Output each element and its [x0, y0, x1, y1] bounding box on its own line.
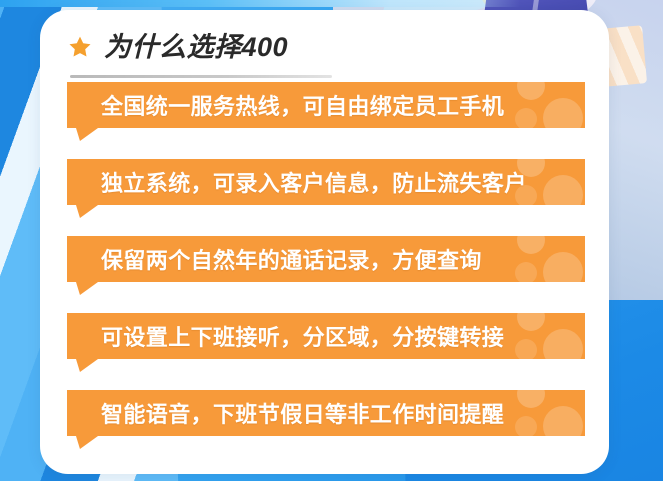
feature-banner-label: 独立系统，可录入客户信息，防止流失客户	[101, 159, 555, 205]
header-divider	[70, 75, 332, 78]
banner-tail	[76, 128, 98, 141]
page-title: 为什么选择400	[104, 34, 288, 61]
background-top-sky-strip	[0, 0, 520, 7]
banner-tail	[76, 359, 98, 372]
content-card: 为什么选择400 全国统一服务热线，可自由绑定员工手机 独立系统，可录入客户信息…	[40, 10, 609, 474]
feature-banner-label: 保留两个自然年的通话记录，方便查询	[101, 236, 555, 282]
feature-banner-label: 全国统一服务热线，可自由绑定员工手机	[101, 82, 555, 128]
banner-tail	[76, 282, 98, 295]
feature-banner-list: 全国统一服务热线，可自由绑定员工手机 独立系统，可录入客户信息，防止流失客户 保…	[67, 82, 587, 436]
card-header: 为什么选择400	[68, 28, 568, 86]
feature-banner-label: 可设置上下班接听，分区域，分按键转接	[101, 313, 555, 359]
feature-banner: 可设置上下班接听，分区域，分按键转接	[67, 313, 585, 359]
feature-banner-label: 智能语音，下班节假日等非工作时间提醒	[101, 390, 555, 436]
feature-banner: 保留两个自然年的通话记录，方便查询	[67, 236, 585, 282]
poster-root: 为什么选择400 全国统一服务热线，可自由绑定员工手机 独立系统，可录入客户信息…	[0, 0, 663, 481]
banner-tail	[76, 436, 98, 449]
star-icon	[68, 35, 92, 59]
feature-banner: 独立系统，可录入客户信息，防止流失客户	[67, 159, 585, 205]
feature-banner: 全国统一服务热线，可自由绑定员工手机	[67, 82, 585, 128]
feature-banner: 智能语音，下班节假日等非工作时间提醒	[67, 390, 585, 436]
banner-tail	[76, 205, 98, 218]
card-header-row: 为什么选择400	[68, 28, 568, 66]
